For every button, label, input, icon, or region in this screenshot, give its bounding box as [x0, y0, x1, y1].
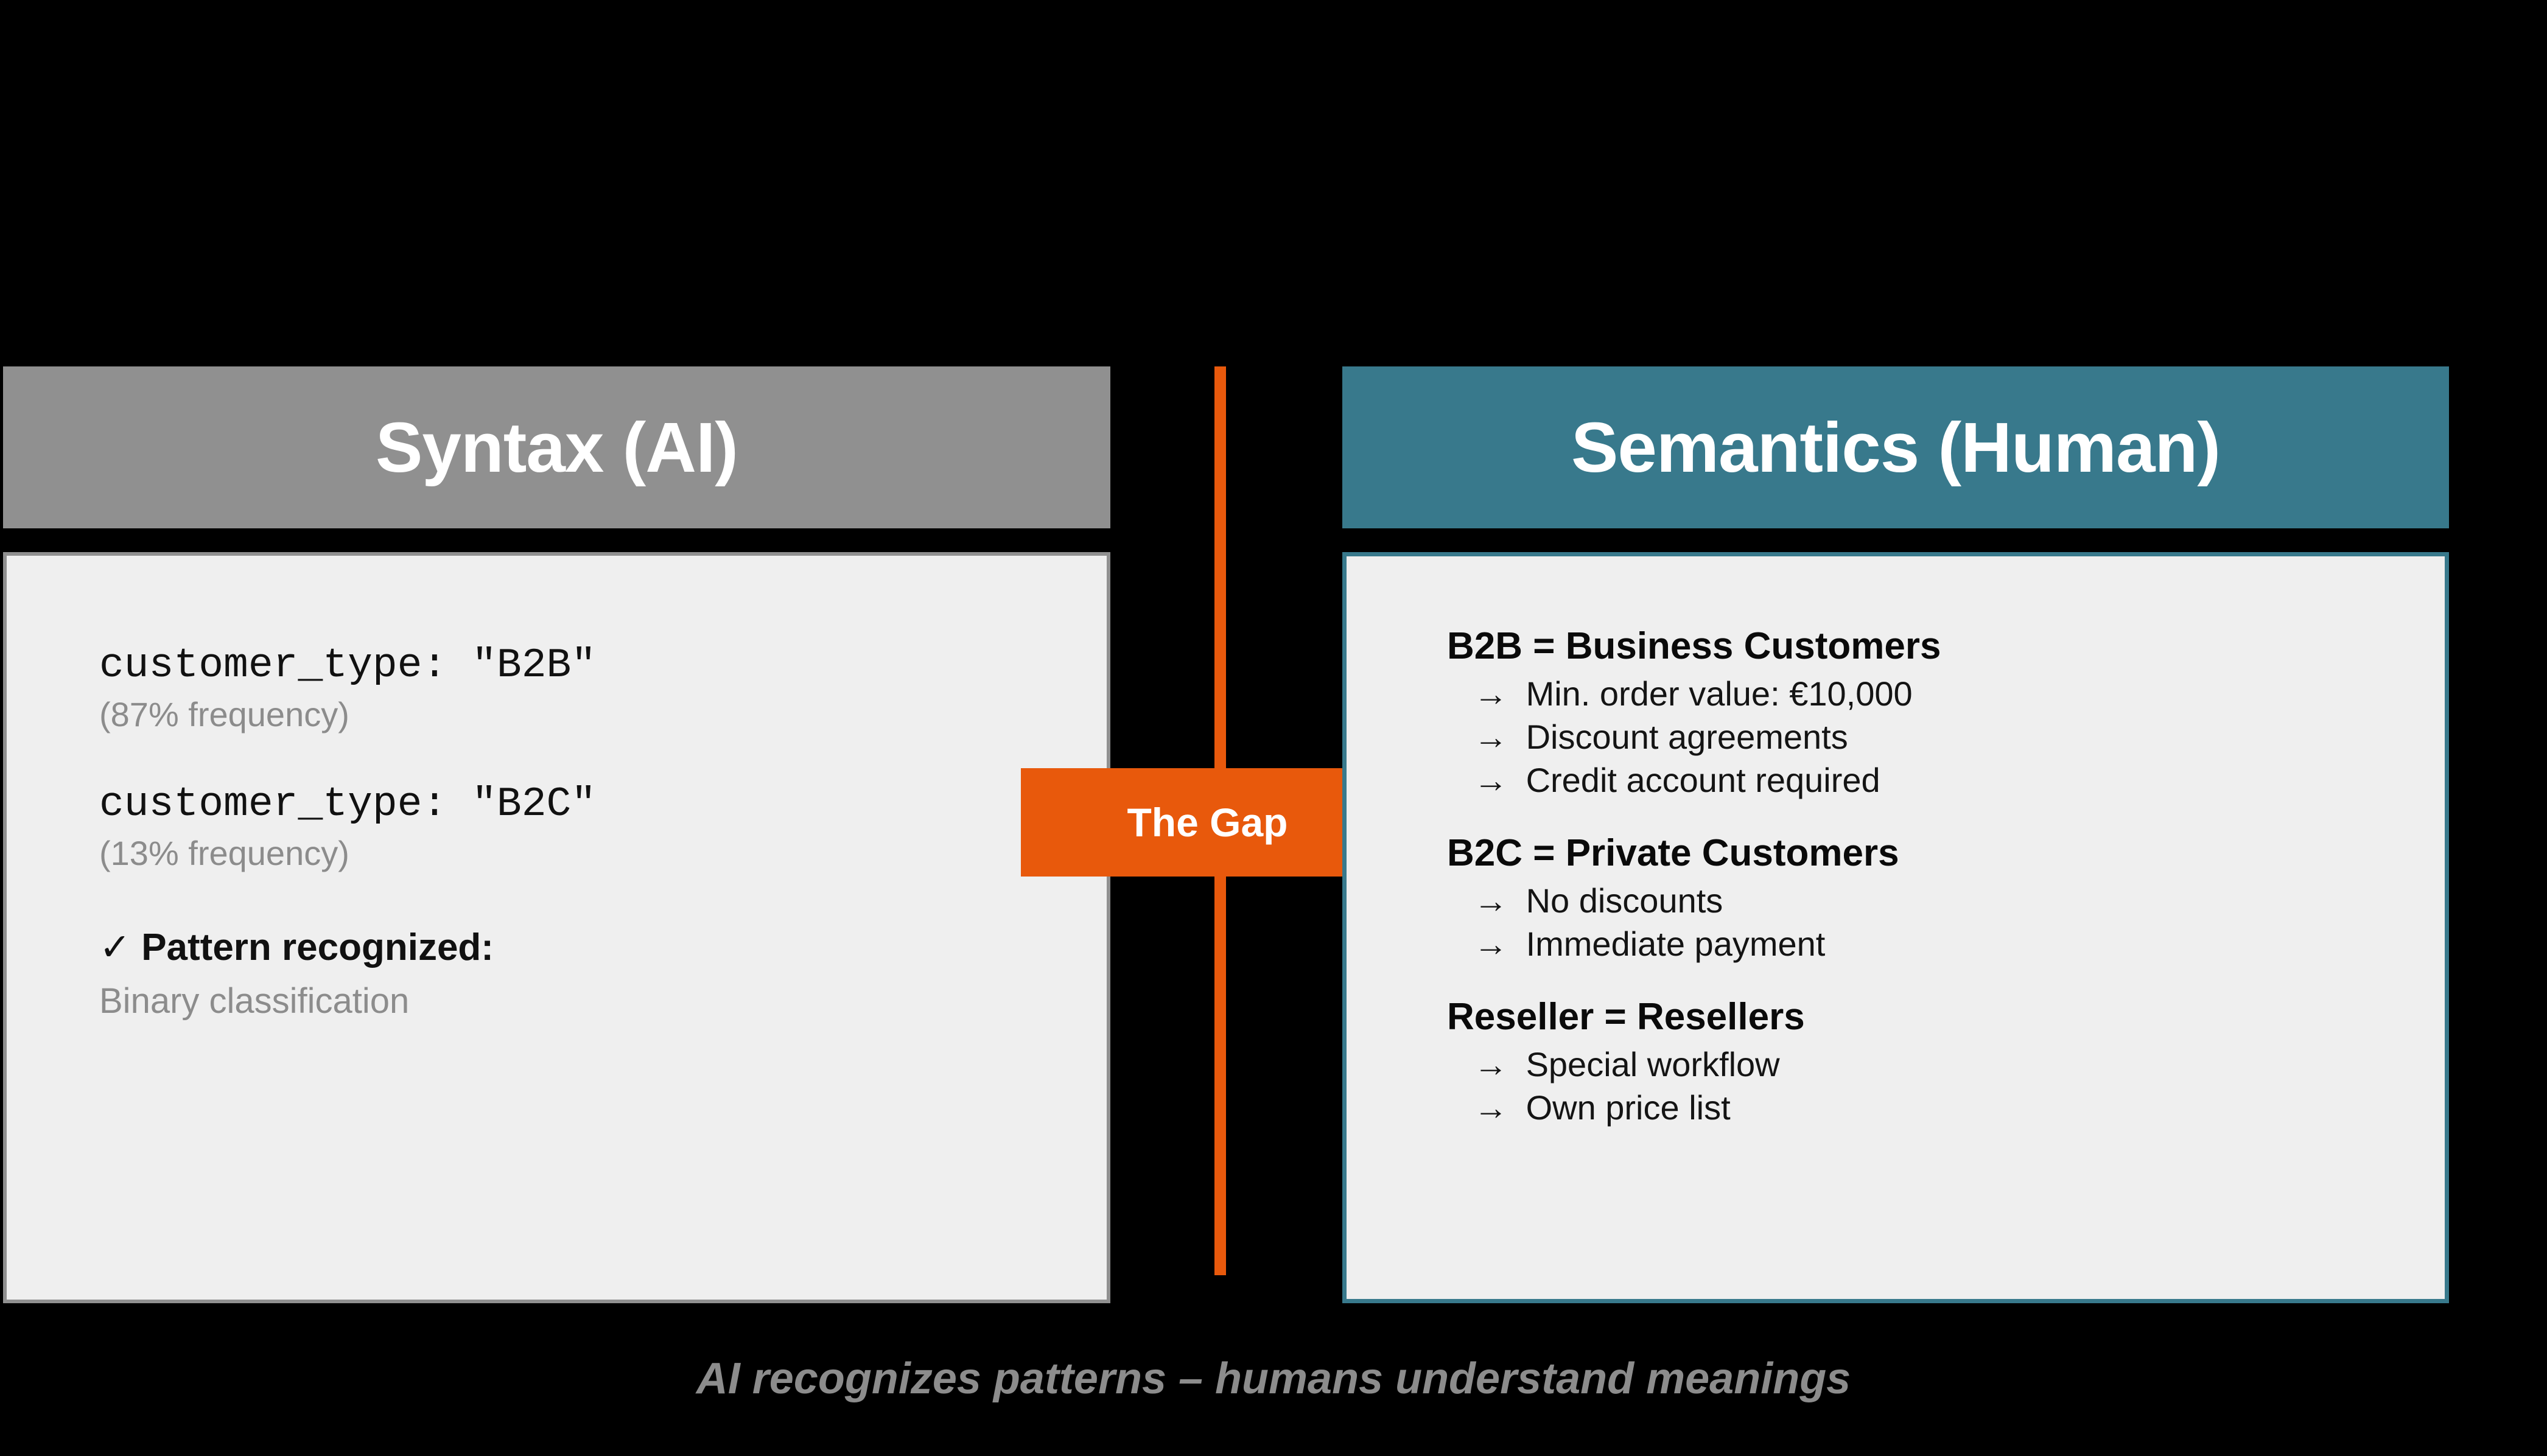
syntax-content: customer_type: "B2B" (87% frequency) cus… [99, 645, 1049, 1019]
semantics-group-reseller: Reseller = Resellers → Special workflow … [1447, 997, 2433, 1128]
semantics-list-item: → Min. order value: €10,000 [1474, 674, 2433, 714]
syntax-panel-body: customer_type: "B2B" (87% frequency) cus… [3, 552, 1110, 1303]
semantics-item-label: No discounts [1526, 881, 1723, 920]
arrow-right-icon: → [1474, 925, 1508, 963]
semantics-list-item: → Immediate payment [1474, 925, 2433, 964]
code-block-b2c: customer_type: "B2C" (13% frequency) [99, 784, 1049, 870]
semantics-list-item: → Credit account required [1474, 761, 2433, 800]
semantics-item-label: Min. order value: €10,000 [1526, 674, 1913, 713]
semantics-group-title: B2C = Private Customers [1447, 833, 2433, 874]
code-line-b2c: customer_type: "B2C" [99, 784, 1049, 825]
semantics-content: B2B = Business Customers → Min. order va… [1447, 626, 2433, 1132]
pattern-recognized-heading: ✓ Pattern recognized: [99, 929, 1049, 967]
arrow-right-icon: → [1474, 1088, 1508, 1127]
pattern-recognized-subtext: Binary classification [99, 984, 1049, 1019]
pattern-recognized-label: Pattern recognized: [141, 926, 494, 968]
code-frequency-b2b: (87% frequency) [99, 698, 1049, 732]
semantics-panel-title: Semantics (Human) [1571, 412, 2220, 483]
code-block-b2b: customer_type: "B2B" (87% frequency) [99, 645, 1049, 732]
semantics-item-label: Discount agreements [1526, 718, 1848, 756]
semantics-item-label: Immediate payment [1526, 925, 1826, 963]
semantics-list-item: → Discount agreements [1474, 718, 2433, 757]
semantics-group-title: Reseller = Resellers [1447, 997, 2433, 1038]
semantics-group-b2c: B2C = Private Customers → No discounts →… [1447, 833, 2433, 964]
semantics-list-item: → No discounts [1474, 881, 2433, 921]
semantics-item-label: Special workflow [1526, 1045, 1780, 1083]
gap-badge: The Gap [1021, 768, 1394, 877]
syntax-panel-header: Syntax (AI) [3, 366, 1110, 528]
semantics-list-item: → Own price list [1474, 1088, 2433, 1128]
slide-caption: AI recognizes patterns – humans understa… [0, 1353, 2547, 1405]
gap-badge-label: The Gap [1127, 802, 1288, 842]
arrow-right-icon: → [1474, 718, 1508, 756]
checkmark-icon: ✓ [99, 926, 131, 968]
slide-canvas: Syntax (AI) customer_type: "B2B" (87% fr… [0, 0, 2547, 1456]
semantics-list-item: → Special workflow [1474, 1045, 2433, 1085]
arrow-right-icon: → [1474, 1045, 1508, 1083]
pattern-recognized-block: ✓ Pattern recognized: Binary classificat… [99, 929, 1049, 1019]
arrow-right-icon: → [1474, 761, 1508, 799]
semantics-group-b2b: B2B = Business Customers → Min. order va… [1447, 626, 2433, 800]
semantics-panel-header: Semantics (Human) [1342, 366, 2449, 528]
semantics-group-title: B2B = Business Customers [1447, 626, 2433, 667]
semantics-panel-body: B2B = Business Customers → Min. order va… [1342, 552, 2449, 1303]
semantics-item-label: Credit account required [1526, 761, 1880, 799]
arrow-right-icon: → [1474, 674, 1508, 713]
semantics-item-label: Own price list [1526, 1088, 1731, 1127]
syntax-panel-title: Syntax (AI) [376, 412, 738, 483]
code-frequency-b2c: (13% frequency) [99, 836, 1049, 870]
arrow-right-icon: → [1474, 881, 1508, 920]
code-line-b2b: customer_type: "B2B" [99, 645, 1049, 687]
